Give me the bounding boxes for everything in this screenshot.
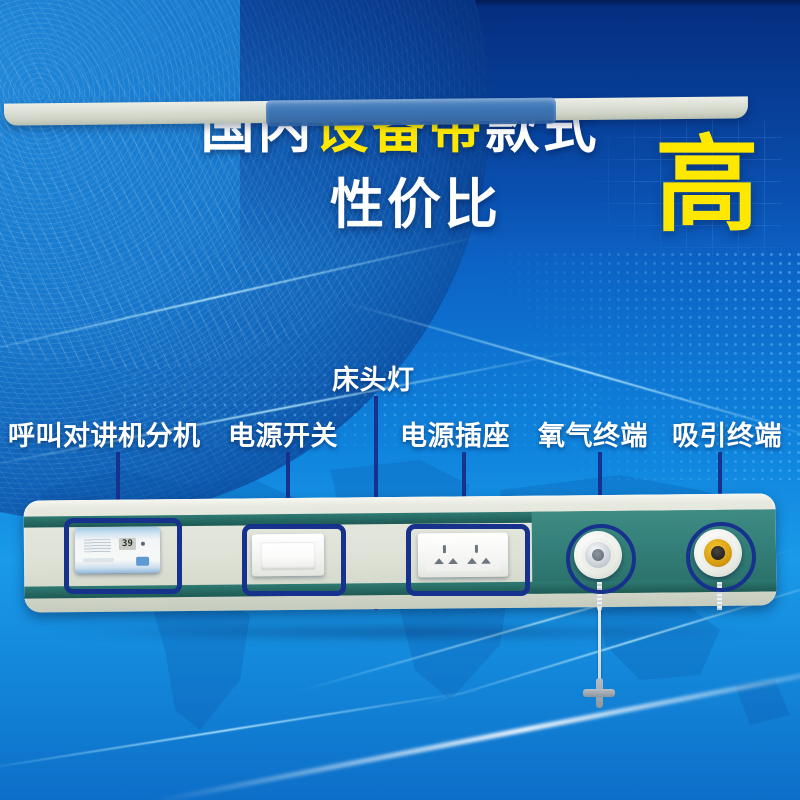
promo-image: 国内设备带款式 性价比 高 呼叫对讲机分机 电源开关 床头灯 电源插座 氧气终端… [0, 0, 800, 800]
grip-horizontal-bar [583, 689, 615, 697]
highlight-box-socket [406, 524, 530, 596]
highlight-ring-oxygen [566, 524, 636, 594]
callout-label-socket: 电源插座 [400, 414, 510, 453]
pull-cord-grip[interactable] [583, 678, 615, 708]
callout-label-bed-lamp: 床头灯 [332, 358, 415, 397]
headline-line-2: 性价比 [330, 160, 660, 239]
highlight-ring-suction [686, 522, 756, 592]
highlight-box-switch [242, 524, 346, 596]
callout-label-intercom: 呼叫对讲机分机 [8, 414, 201, 453]
callout-label-suction: 吸引终端 [672, 414, 782, 453]
callout-label-oxygen: 氧气终端 [538, 414, 648, 453]
bed-lamp-diffuser [266, 98, 556, 127]
pull-cord[interactable] [598, 607, 601, 685]
callout-label-switch: 电源开关 [228, 414, 338, 453]
headline-emphasis-gao: 高 [655, 134, 759, 238]
highlight-box-intercom [64, 518, 182, 594]
